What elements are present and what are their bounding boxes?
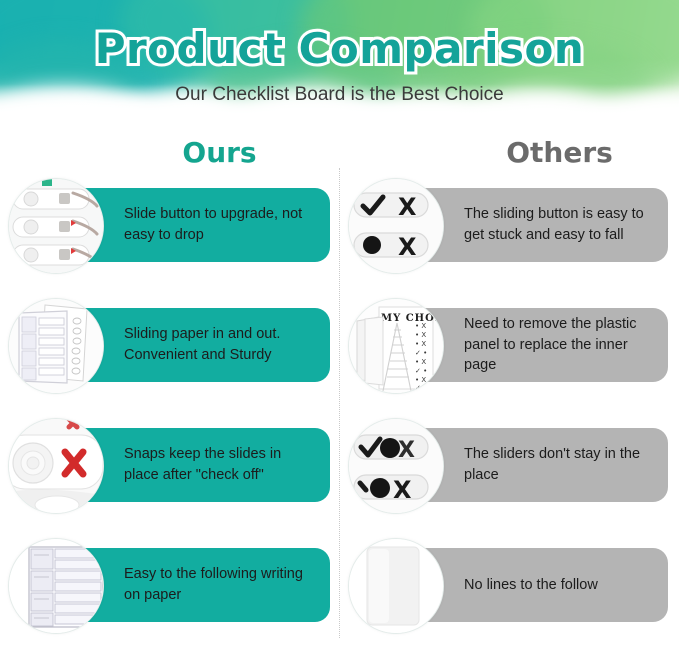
checklist-board-paper-photo xyxy=(8,298,104,394)
loose-sliders-photo: X X xyxy=(348,418,444,514)
page-title: Product Comparison xyxy=(0,24,679,73)
comparison-row-others: The sliders don't stay in the place X X xyxy=(348,418,674,512)
svg-text:• X: • X xyxy=(415,331,426,339)
page-subtitle: Our Checklist Board is the Best Choice xyxy=(0,84,679,106)
comparison-row-ours: Snaps keep the slides in place after "ch… xyxy=(8,418,336,512)
svg-text:X: X xyxy=(398,438,415,463)
svg-text:• X: • X xyxy=(415,358,426,366)
svg-text:• X: • X xyxy=(415,376,426,384)
comparison-row-ours: Sliding paper in and out. Convenient and… xyxy=(8,298,336,392)
check-x-sliders-photo: X X xyxy=(348,178,444,274)
column-header-others: Others xyxy=(452,136,667,169)
slide-buttons-closeup-photo xyxy=(8,178,104,274)
comparison-row-ours: Slide button to upgrade, not easy to dro… xyxy=(8,178,336,272)
svg-text:✓ •: ✓ • xyxy=(415,384,427,392)
comparison-row-others: The sliding button is easy to get stuck … xyxy=(348,178,674,272)
svg-text:X: X xyxy=(398,193,417,221)
column-divider xyxy=(339,168,340,638)
lined-paper-sheet-photo xyxy=(8,538,104,634)
comparison-row-ours: Easy to the following writing on paper xyxy=(8,538,336,632)
svg-text:• X: • X xyxy=(415,340,426,348)
svg-text:X: X xyxy=(398,233,417,261)
column-header-ours: Ours xyxy=(112,136,327,169)
svg-text:✓ •: ✓ • xyxy=(415,367,427,375)
svg-text:✓ •: ✓ • xyxy=(415,349,427,357)
my-chores-board-photo: MY CHORES • X• X• X ✓ •• X✓ • • X✓ • xyxy=(348,298,444,394)
blank-white-panel-photo xyxy=(348,538,444,634)
comparison-row-others: Need to remove the plastic panel to repl… xyxy=(348,298,674,392)
snap-slider-x-closeup-photo xyxy=(8,418,104,514)
svg-text:X: X xyxy=(393,476,412,504)
svg-text:• X: • X xyxy=(415,322,426,330)
comparison-row-others: No lines to the follow xyxy=(348,538,674,632)
